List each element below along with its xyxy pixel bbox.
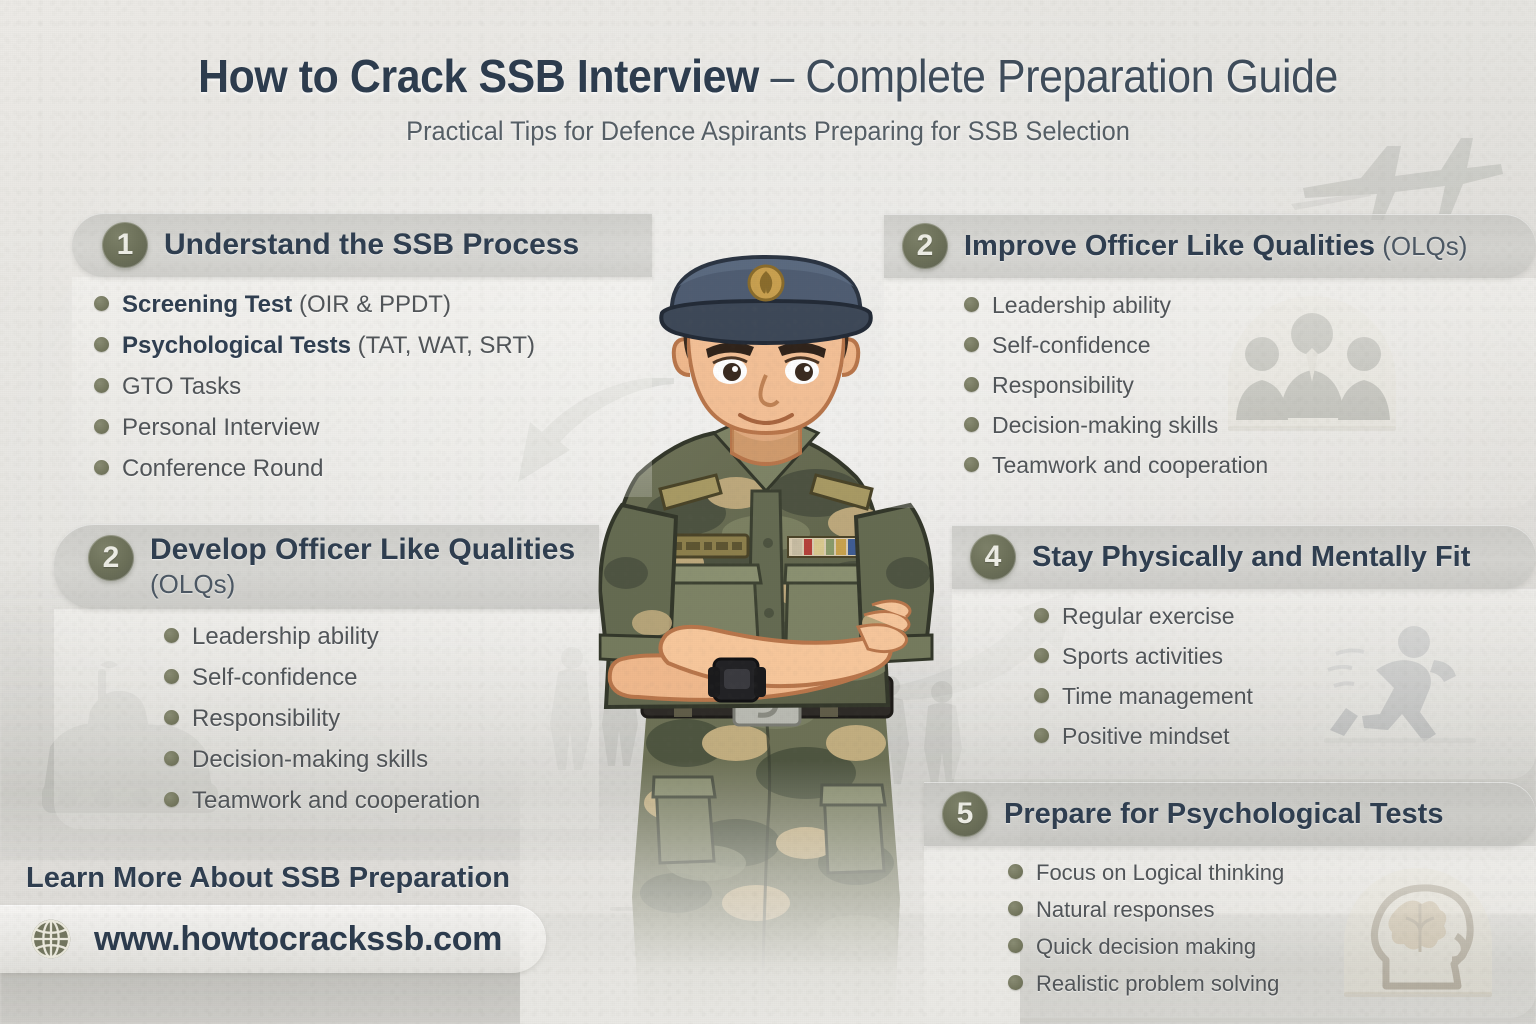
bullet-dot-icon xyxy=(94,296,109,311)
page-title: How to Crack SSB Interview – Complete Pr… xyxy=(54,52,1482,100)
item-normal: Natural responses xyxy=(1036,899,1215,921)
bullet-dot-icon xyxy=(1034,688,1049,703)
item-bold: Psychological Tests xyxy=(122,332,351,359)
item-normal: Realistic problem solving xyxy=(1036,973,1279,995)
bullet-dot-icon xyxy=(964,377,979,392)
item-normal: Quick decision making xyxy=(1036,936,1256,958)
item-normal: (OIR & PPDT) xyxy=(292,291,451,318)
bullet-list: Leadership ability Self-confidence Respo… xyxy=(964,294,1514,477)
section-body: Leadership ability Self-confidence Respo… xyxy=(884,278,1536,508)
section-understand-ssb-process: 1 Understand the SSB Process Screening T… xyxy=(72,213,652,497)
bullet-dot-icon xyxy=(1008,938,1023,953)
list-item: Leadership ability xyxy=(964,294,1514,317)
infographic-canvas: How to Crack SSB Interview – Complete Pr… xyxy=(0,0,1536,1024)
list-item: Teamwork and cooperation xyxy=(164,789,577,813)
item-bold: Screening Test xyxy=(122,291,292,318)
list-item: Self-confidence xyxy=(164,666,577,690)
bullet-dot-icon xyxy=(164,792,179,807)
item-normal: Self-confidence xyxy=(992,334,1151,357)
bullet-dot-icon xyxy=(94,460,109,475)
section-title-text: Improve Officer Like Qualities xyxy=(964,230,1375,262)
list-item: Decision-making skills xyxy=(164,748,577,772)
section-header: 2 Develop Officer Like Qualities (OLQs) xyxy=(54,524,599,609)
list-item: Focus on Logical thinking xyxy=(1008,862,1514,884)
list-item: Teamwork and cooperation xyxy=(964,454,1514,477)
bullet-dot-icon xyxy=(964,457,979,472)
item-normal: Responsibility xyxy=(192,707,340,731)
section-title: Improve Officer Like Qualities (OLQs) xyxy=(964,230,1467,262)
list-item: Quick decision making xyxy=(1008,936,1514,958)
item-normal: Time management xyxy=(1062,685,1253,708)
list-item: Natural responses xyxy=(1008,899,1514,921)
globe-icon xyxy=(30,918,72,960)
bullet-dot-icon xyxy=(1034,608,1049,623)
item-normal: Decision-making skills xyxy=(992,414,1218,437)
list-item: Leadership ability xyxy=(164,625,577,649)
step-number-badge: 2 xyxy=(902,223,948,269)
site-url-text: www.howtocrackssb.com xyxy=(94,920,502,959)
list-item: Screening Test (OIR & PPDT) xyxy=(94,293,630,317)
bullet-dot-icon xyxy=(964,337,979,352)
section-title: Stay Physically and Mentally Fit xyxy=(1032,541,1470,573)
title-bold: How to Crack SSB Interview xyxy=(198,50,759,102)
list-item: Decision-making skills xyxy=(964,414,1514,437)
section-title: Understand the SSB Process xyxy=(164,228,579,262)
section-header: 4 Stay Physically and Mentally Fit xyxy=(952,525,1536,589)
section-title: Prepare for Psychological Tests xyxy=(1004,798,1443,830)
step-number-badge: 4 xyxy=(970,534,1016,580)
item-normal: Regular exercise xyxy=(1062,605,1235,628)
list-item: Sports activities xyxy=(1034,645,1514,668)
section-header: 1 Understand the SSB Process xyxy=(72,213,652,277)
list-item: Conference Round xyxy=(94,457,630,481)
item-normal: Decision-making skills xyxy=(192,748,428,772)
section-improve-olqs: 2 Improve Officer Like Qualities (OLQs) … xyxy=(884,214,1536,508)
bullet-list: Screening Test (OIR & PPDT) Psychologica… xyxy=(94,293,630,481)
item-normal: Responsibility xyxy=(992,374,1134,397)
list-item: Self-confidence xyxy=(964,334,1514,357)
item-normal: Conference Round xyxy=(122,455,323,482)
bullet-list: Focus on Logical thinking Natural respon… xyxy=(1008,862,1514,995)
list-item: GTO Tasks xyxy=(94,375,630,399)
bullet-dot-icon xyxy=(964,297,979,312)
bullet-dot-icon xyxy=(1008,901,1023,916)
bullet-dot-icon xyxy=(94,378,109,393)
item-normal: Focus on Logical thinking xyxy=(1036,862,1284,884)
section-title-text: Stay Physically and Mentally Fit xyxy=(1032,541,1470,573)
section-body: Focus on Logical thinking Natural respon… xyxy=(924,846,1536,1018)
item-normal: Self-confidence xyxy=(192,666,357,690)
section-title-text: Understand the SSB Process xyxy=(164,228,579,261)
list-item: Psychological Tests (TAT, WAT, SRT) xyxy=(94,334,630,358)
list-item: Time management xyxy=(1034,685,1514,708)
bullet-list: Regular exercise Sports activities Time … xyxy=(1034,605,1514,748)
list-item: Realistic problem solving xyxy=(1008,973,1514,995)
item-normal: (TAT, WAT, SRT) xyxy=(351,332,535,359)
section-title-text: Prepare for Psychological Tests xyxy=(1004,798,1443,830)
footer: Learn More About SSB Preparation www.how… xyxy=(0,862,630,973)
section-stay-fit: 4 Stay Physically and Mentally Fit Regul… xyxy=(952,525,1536,779)
section-title-suffix: (OLQs) xyxy=(150,569,235,599)
section-body: Leadership ability Self-confidence Respo… xyxy=(54,609,599,829)
item-normal: Leadership ability xyxy=(192,625,379,649)
item-normal: Positive mindset xyxy=(1062,725,1229,748)
bullet-dot-icon xyxy=(94,337,109,352)
section-header: 2 Improve Officer Like Qualities (OLQs) xyxy=(884,214,1536,278)
bullet-dot-icon xyxy=(164,628,179,643)
item-normal: GTO Tasks xyxy=(122,373,241,400)
page-subtitle: Practical Tips for Defence Aspirants Pre… xyxy=(46,116,1490,147)
step-number-badge: 5 xyxy=(942,791,988,837)
section-develop-olqs: 2 Develop Officer Like Qualities (OLQs) … xyxy=(54,524,599,829)
list-item: Regular exercise xyxy=(1034,605,1514,628)
section-title: Develop Officer Like Qualities (OLQs) xyxy=(150,533,577,600)
item-normal: Personal Interview xyxy=(122,414,319,441)
website-link[interactable]: www.howtocrackssb.com xyxy=(0,905,546,973)
list-item: Responsibility xyxy=(964,374,1514,397)
bullet-dot-icon xyxy=(164,710,179,725)
item-normal: Sports activities xyxy=(1062,645,1223,668)
header: How to Crack SSB Interview – Complete Pr… xyxy=(0,52,1536,147)
bullet-dot-icon xyxy=(1034,648,1049,663)
bullet-dot-icon xyxy=(164,669,179,684)
bullet-dot-icon xyxy=(1008,975,1023,990)
section-title-text: Develop Officer Like Qualities xyxy=(150,533,575,566)
section-prepare-psych-tests: 5 Prepare for Psychological Tests Focus … xyxy=(924,782,1536,1018)
section-body: Regular exercise Sports activities Time … xyxy=(952,589,1536,779)
title-light: – Complete Preparation Guide xyxy=(759,50,1338,102)
list-item: Positive mindset xyxy=(1034,725,1514,748)
bullet-dot-icon xyxy=(1008,864,1023,879)
bullet-dot-icon xyxy=(164,751,179,766)
list-item: Responsibility xyxy=(164,707,577,731)
section-body: Screening Test (OIR & PPDT) Psychologica… xyxy=(72,277,652,497)
step-number-badge: 2 xyxy=(88,535,134,581)
list-item: Personal Interview xyxy=(94,416,630,440)
bullet-dot-icon xyxy=(1034,728,1049,743)
bullet-list: Leadership ability Self-confidence Respo… xyxy=(164,625,577,813)
item-normal: Teamwork and cooperation xyxy=(192,789,480,813)
bullet-dot-icon xyxy=(964,417,979,432)
section-header: 5 Prepare for Psychological Tests xyxy=(924,782,1536,846)
footer-heading: Learn More About SSB Preparation xyxy=(26,862,630,895)
step-number-badge: 1 xyxy=(102,222,148,268)
item-normal: Teamwork and cooperation xyxy=(992,454,1268,477)
section-title-suffix: (OLQs) xyxy=(1375,231,1467,261)
bullet-dot-icon xyxy=(94,419,109,434)
item-normal: Leadership ability xyxy=(992,294,1171,317)
